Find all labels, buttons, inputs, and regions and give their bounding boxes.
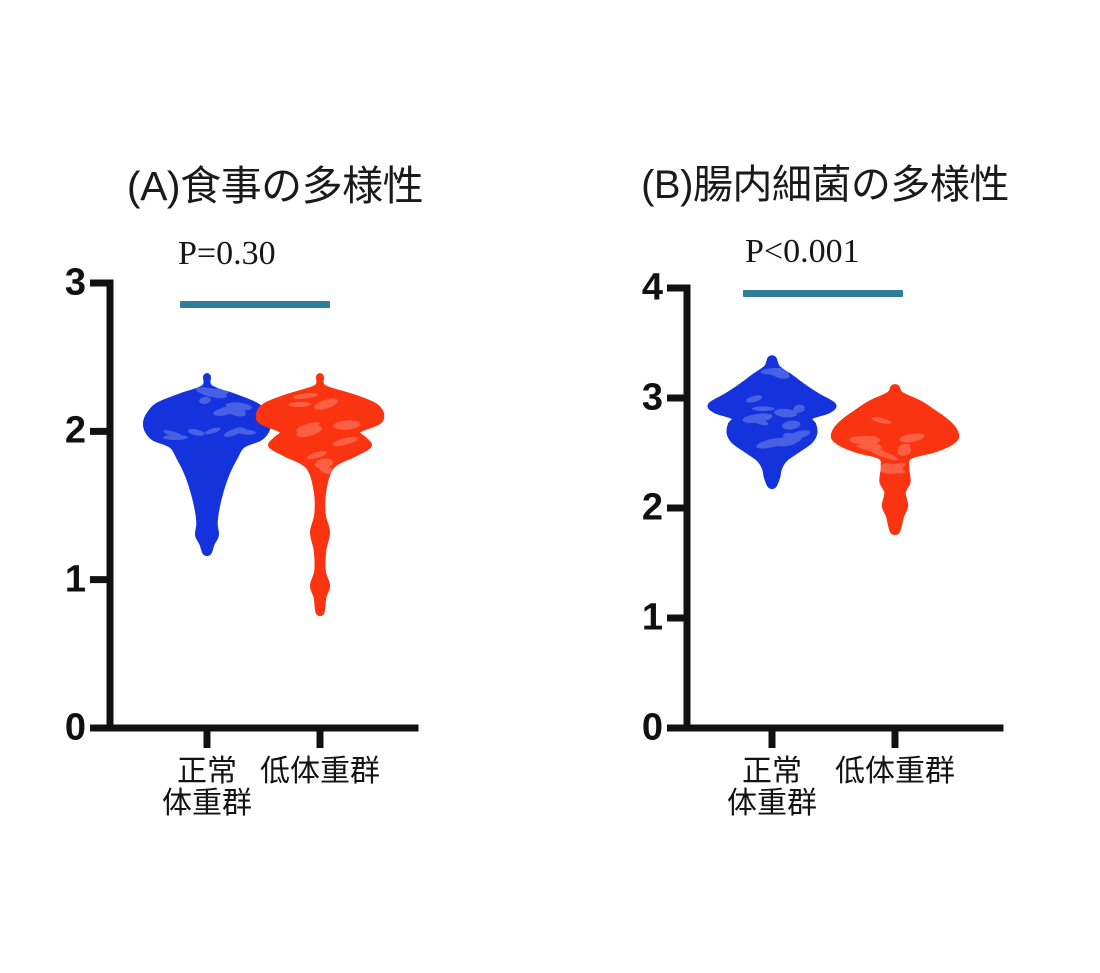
x-category-label: 低体重群 bbox=[235, 756, 405, 788]
y-tick-label: 1 bbox=[42, 558, 86, 601]
y-tick-label: 1 bbox=[619, 597, 663, 640]
violin-shape bbox=[258, 375, 383, 614]
panel-a-axes bbox=[110, 283, 415, 728]
x-category-label: 低体重群 bbox=[810, 756, 980, 788]
violin-shape bbox=[710, 357, 835, 487]
y-tick-label: 0 bbox=[42, 707, 86, 750]
panel-a-plot-area bbox=[0, 0, 550, 973]
y-tick-label: 2 bbox=[42, 410, 86, 453]
y-tick-label: 4 bbox=[619, 267, 663, 310]
violin-figure: (A)食事の多様性 P=0.30 0123 正常 体重群低体重群 (B)腸内細菌… bbox=[0, 0, 1100, 973]
y-tick-label: 3 bbox=[42, 262, 86, 305]
y-tick-label: 2 bbox=[619, 487, 663, 530]
panel-b-violins bbox=[710, 357, 958, 533]
panel-a: (A)食事の多様性 P=0.30 0123 正常 体重群低体重群 bbox=[0, 0, 550, 973]
y-tick-label: 0 bbox=[619, 707, 663, 750]
panel-a-violins bbox=[145, 375, 382, 614]
panel-b-axes bbox=[687, 288, 1000, 728]
y-tick-label: 3 bbox=[619, 377, 663, 420]
panel-b: (B)腸内細菌の多様性 P<0.001 01234 正常 体重群低体重群 bbox=[550, 0, 1100, 973]
